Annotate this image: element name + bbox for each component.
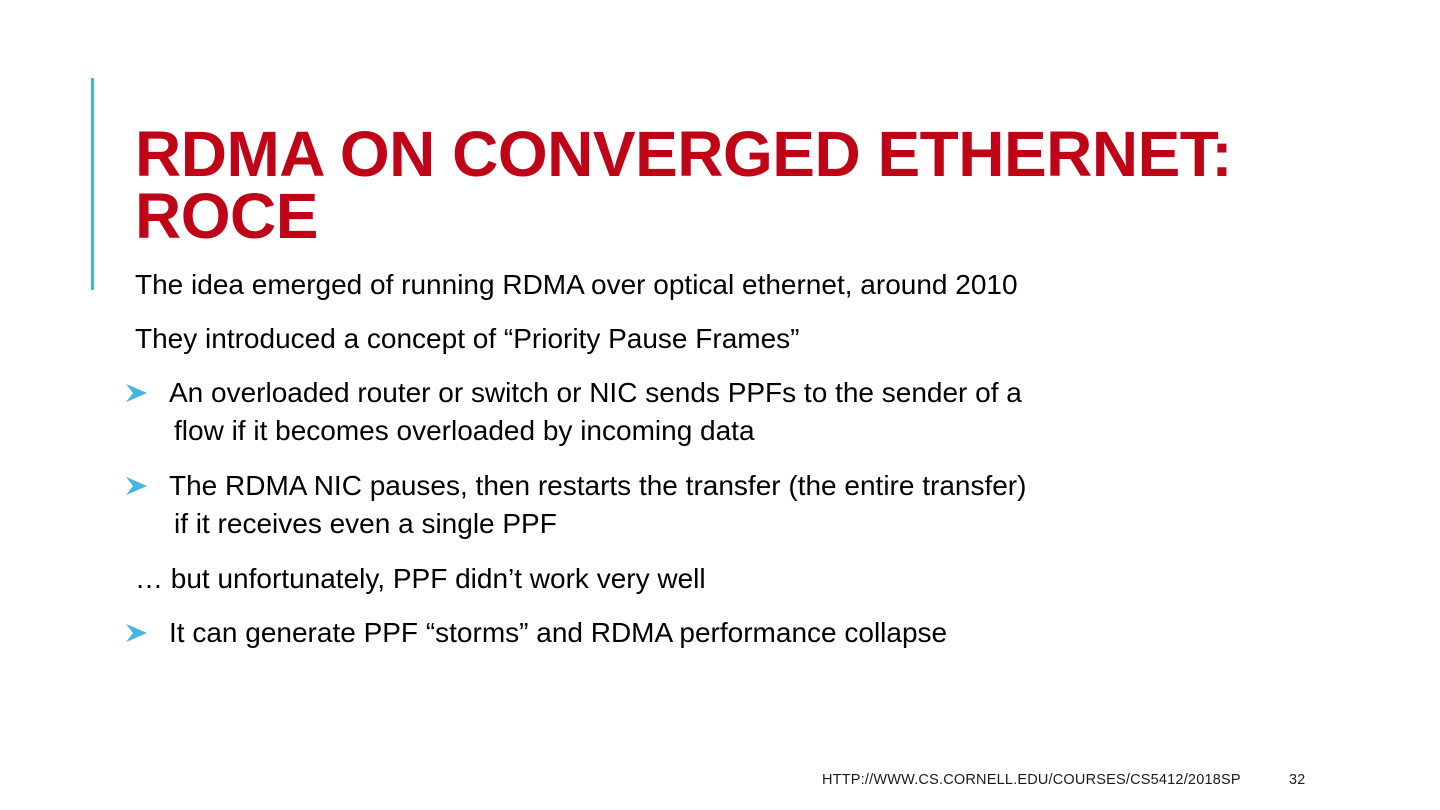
arrowhead-bullet-icon [125, 614, 169, 643]
arrowhead-bullet-icon [125, 374, 169, 403]
bullet-text-wrapper: It can generate PPF “storms” and RDMA pe… [169, 614, 1412, 652]
bullet-line-continuation: if it receives even a single PPF [169, 505, 1412, 543]
body-line-bulleted: It can generate PPF “storms” and RDMA pe… [122, 614, 1412, 652]
title-accent-bar [91, 78, 94, 290]
bullet-line-continuation: flow if it becomes overloaded by incomin… [169, 412, 1412, 450]
footer-course-url[interactable]: HTTP://WWW.CS.CORNELL.EDU/COURSES/CS5412… [822, 770, 1241, 790]
bullet-line-1: It can generate PPF “storms” and RDMA pe… [169, 617, 947, 648]
body-line-plain: They introduced a concept of “Priority P… [122, 320, 1412, 358]
body-line-text: The idea emerged of running RDMA over op… [135, 266, 1412, 304]
body-line-bulleted: The RDMA NIC pauses, then restarts the t… [122, 467, 1412, 543]
slide-body: The idea emerged of running RDMA over op… [122, 266, 1412, 669]
body-line-text: … but unfortunately, PPF didn’t work ver… [135, 560, 1412, 598]
bullet-line-1: The RDMA NIC pauses, then restarts the t… [169, 470, 1026, 501]
slide-footer: HTTP://WWW.CS.CORNELL.EDU/COURSES/CS5412… [0, 770, 1440, 794]
footer-page-number: 32 [1289, 770, 1305, 790]
slide-title-block: RDMA ON CONVERGED ETHERNET: RoCE [91, 78, 1361, 290]
body-line-plain: The idea emerged of running RDMA over op… [122, 266, 1412, 304]
body-line-plain: … but unfortunately, PPF didn’t work ver… [122, 560, 1412, 598]
page-title: RDMA ON CONVERGED ETHERNET: RoCE [135, 121, 1361, 247]
bullet-text-wrapper: The RDMA NIC pauses, then restarts the t… [169, 467, 1412, 543]
bullet-text-wrapper: An overloaded router or switch or NIC se… [169, 374, 1412, 450]
body-line-bulleted: An overloaded router or switch or NIC se… [122, 374, 1412, 450]
slide-canvas: RDMA ON CONVERGED ETHERNET: RoCE The ide… [0, 0, 1440, 810]
bullet-line-1: An overloaded router or switch or NIC se… [169, 377, 1022, 408]
body-line-text: They introduced a concept of “Priority P… [135, 320, 1412, 358]
arrowhead-bullet-icon [125, 467, 169, 496]
